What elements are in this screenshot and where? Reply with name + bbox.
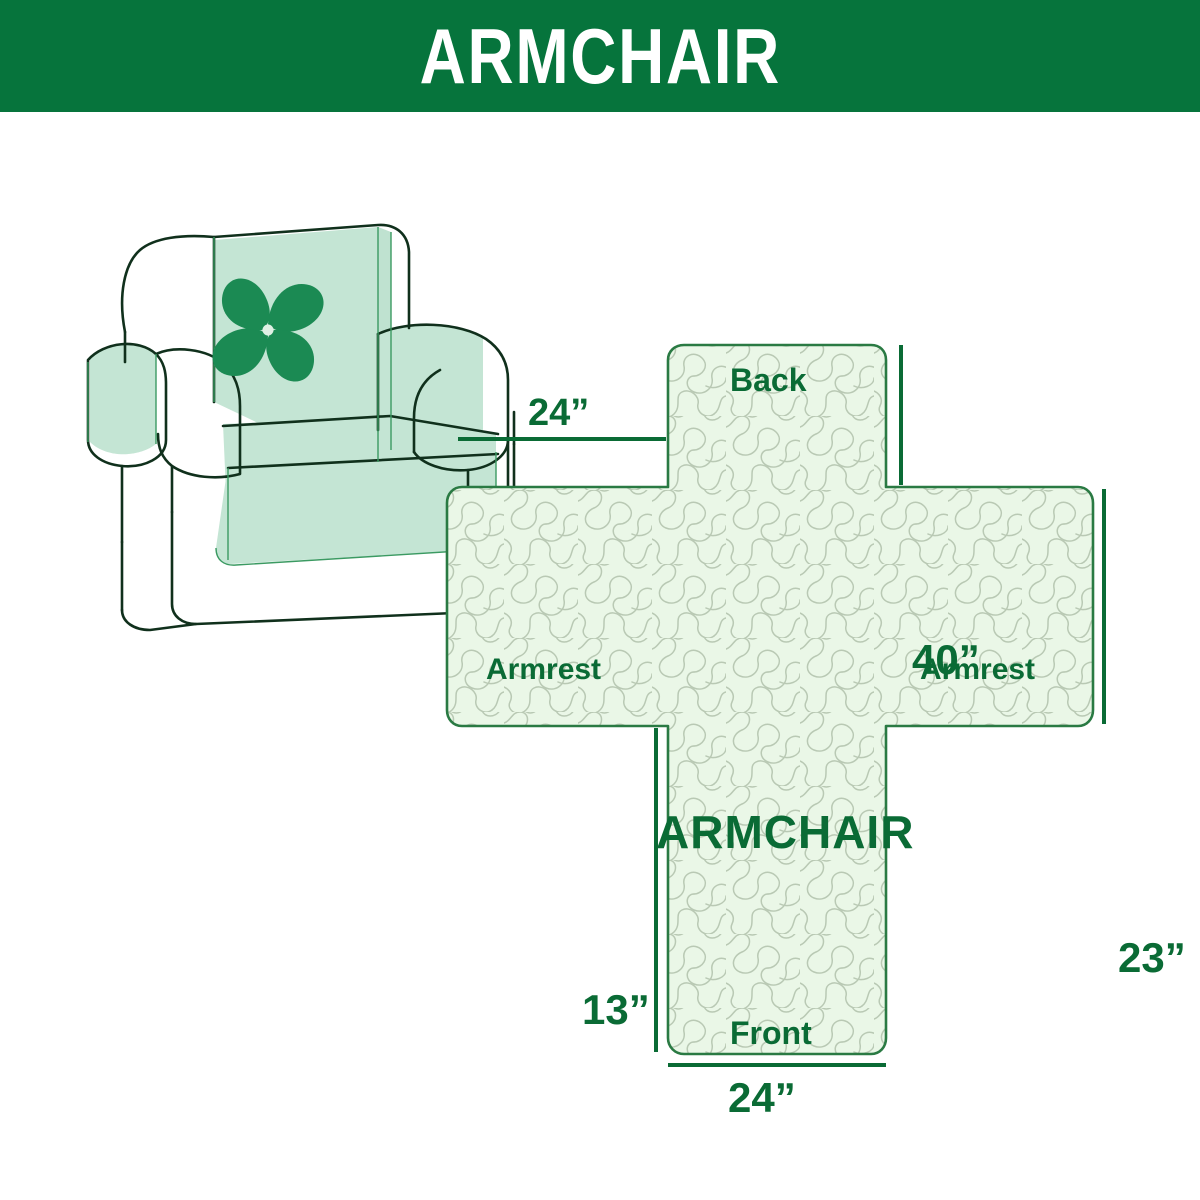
panel-label-left-armrest: Armrest	[486, 655, 601, 685]
panel-label-front: Front	[730, 1017, 812, 1049]
dimension-label-back-width: 24”	[528, 394, 589, 432]
content-area: Back ARMCHAIR Armrest Armrest Front 40” …	[0, 112, 1200, 1200]
dimension-label-body-height: 23”	[1118, 937, 1186, 979]
dimension-label-back-height: 40”	[912, 639, 980, 681]
header-banner: ARMCHAIR	[0, 0, 1200, 112]
cover-cross-shape	[447, 345, 1093, 1054]
page-title: ARMCHAIR	[419, 17, 780, 95]
panel-label-back: Back	[730, 364, 807, 396]
dimension-label-front-height: 13”	[582, 989, 650, 1031]
dimension-label-front-width: 24”	[728, 1077, 796, 1119]
cover-dimension-diagram: Back ARMCHAIR Armrest Armrest Front 40” …	[430, 342, 1200, 1152]
diagram-center-label: ARMCHAIR	[656, 809, 914, 855]
